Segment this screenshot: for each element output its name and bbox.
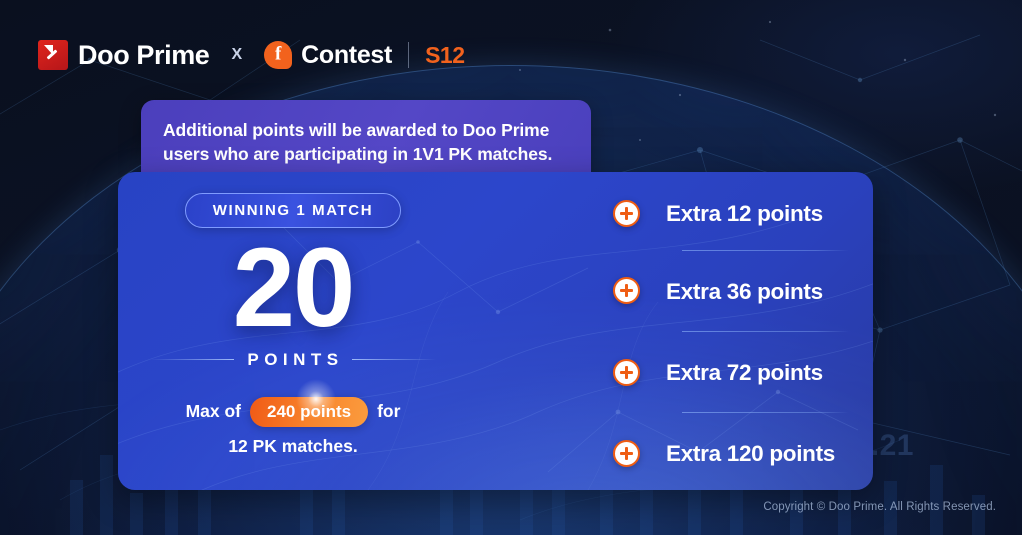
notice-line-1: Additional points will be awarded to Doo… [163, 118, 569, 142]
poster-canvas: 25.21 Doo Prime X Contest S12 Additional… [0, 0, 1022, 535]
season-badge: S12 [425, 42, 464, 69]
extra-points-label: Extra 12 points [666, 201, 823, 227]
max-prefix: Max of [186, 401, 241, 422]
points-summary-column: WINNING 1 MATCH 20 POINTS Max of 240 poi… [118, 172, 468, 490]
streak-card: 9 times win streak [452, 335, 632, 418]
max-points-badge-label: 240 points [267, 402, 351, 422]
row-divider [682, 331, 849, 332]
points-label-rule-right [352, 359, 436, 360]
winning-match-badge: WINNING 1 MATCH [185, 193, 401, 228]
max-points-badge: 240 points [250, 397, 368, 427]
brand-header: Doo Prime X Contest S12 [38, 32, 465, 78]
max-points-line: Max of 240 points for [186, 397, 401, 427]
partner-name: Contest [301, 41, 392, 70]
extra-points-label: Extra 36 points [666, 279, 823, 305]
streak-card: 6 times win streak [452, 253, 632, 336]
row-divider [682, 250, 849, 251]
streak-times: 3 times [509, 187, 575, 209]
notice-line-2: users who are participating in 1V1 PK ma… [163, 142, 569, 166]
streak-card-label: 9 times win streak [495, 350, 588, 398]
plus-circle-icon [613, 277, 640, 304]
plus-circle-icon [613, 359, 640, 386]
points-value: 20 [233, 234, 354, 342]
brand-separator: X [231, 46, 242, 64]
streak-text: win streak [495, 211, 588, 233]
plus-circle-icon [613, 200, 640, 227]
max-suffix: for [377, 401, 400, 422]
doo-prime-logo-icon [38, 40, 68, 70]
streak-text: win streak [495, 292, 588, 314]
brand-name: Doo Prime [78, 40, 209, 71]
extra-points-label: Extra 72 points [666, 360, 823, 386]
facebook-f-icon [264, 41, 292, 69]
points-label: POINTS [234, 350, 351, 370]
max-points-line-2: 12 PK matches. [228, 436, 357, 457]
streak-card-label: 3 times win streak [495, 187, 588, 235]
row-divider [682, 412, 849, 413]
streak-times: 9 times [509, 350, 575, 372]
streak-card-label: 12 times win streak [495, 432, 588, 480]
points-label-row: POINTS [150, 350, 436, 370]
streak-text: win streak [495, 456, 588, 478]
streak-times: 6 times [509, 268, 575, 290]
streak-times: 12 times [504, 432, 580, 454]
streak-text: win streak [495, 374, 588, 396]
copyright-text: Copyright © Doo Prime. All Rights Reserv… [763, 501, 996, 513]
streak-card: 12 times win streak [452, 417, 632, 500]
points-label-rule-left [150, 359, 234, 360]
streak-card-label: 6 times win streak [495, 268, 588, 316]
header-divider [408, 42, 409, 68]
extra-points-label: Extra 120 points [666, 441, 835, 467]
streak-card: 3 times win streak [452, 172, 632, 255]
plus-circle-icon [613, 440, 640, 467]
